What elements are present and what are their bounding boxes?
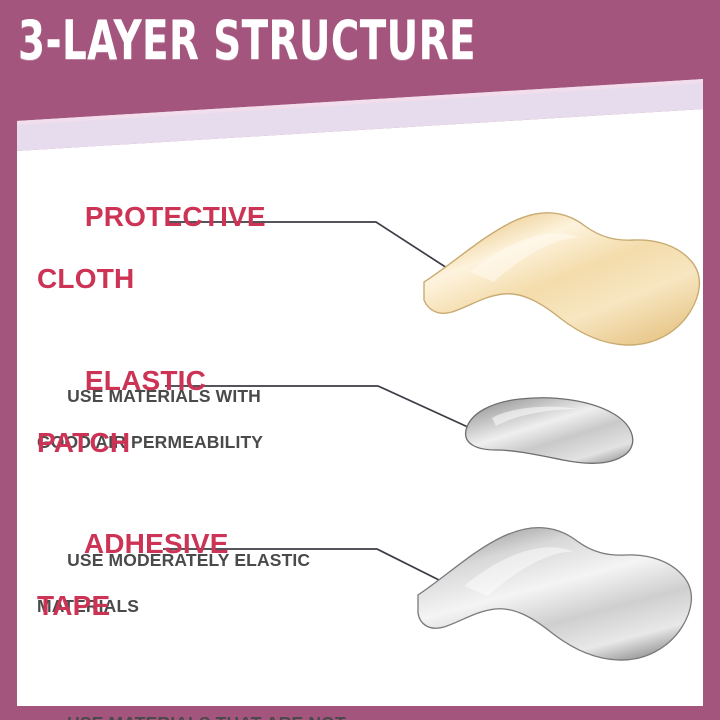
infographic-root: 3-LAYER STRUCTURE [0,0,720,720]
section-adhesive-tape: ADHESIVE TAPE USE MATERIALS THAT ARE NOT… [37,497,346,720]
section-body: USE MATERIALS THAT ARE NOT LIKELY TO DAM… [37,689,346,720]
section-heading-line2: TAPE [37,590,346,621]
section-body-line1: USE MATERIALS THAT ARE NOT [67,713,346,720]
section-heading-line2: CLOTH [37,263,266,294]
page-title: 3-LAYER STRUCTURE [18,12,476,70]
section-heading-line1: PROTECTIVE [85,201,266,232]
section-heading-line2: PATCH [37,427,310,458]
section-heading-line1: ADHESIVE [84,528,229,559]
section-heading: PROTECTIVE CLOTH [37,170,266,356]
section-heading-line1: ELASTIC [85,365,206,396]
header-banner: 3-LAYER STRUCTURE [0,0,720,160]
section-heading: ADHESIVE TAPE [37,497,346,683]
section-heading: ELASTIC PATCH [37,334,310,520]
